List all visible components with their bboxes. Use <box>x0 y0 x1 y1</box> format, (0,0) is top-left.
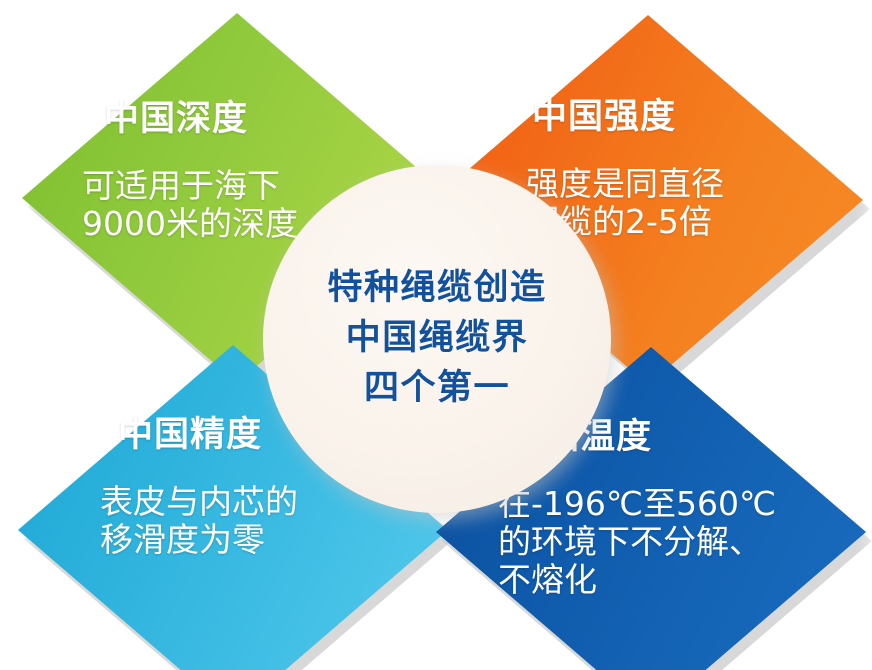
infographic-canvas: 中国深度 可适用于海下 9000米的深度 中国强度 强度是同直径 钢缆的2-5倍… <box>0 0 872 670</box>
center-circle[interactable]: 特种绳缆创造 中国绳缆界 四个第一 <box>263 165 611 513</box>
center-headline: 特种绳缆创造 中国绳缆界 四个第一 <box>327 264 546 413</box>
